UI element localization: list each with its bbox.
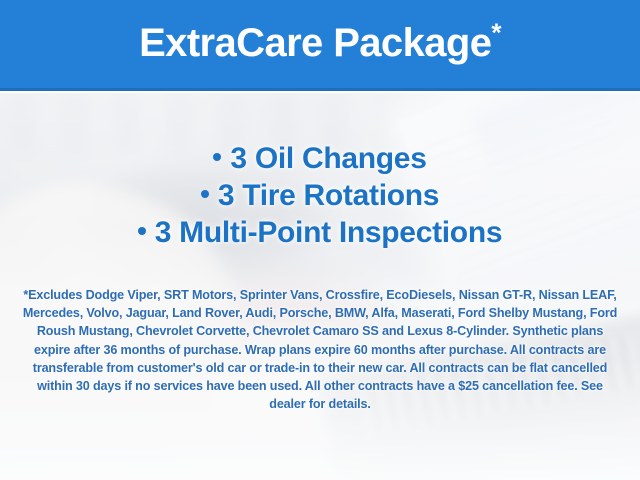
extracare-promo-card: ExtraCare Package* 3 Oil Changes 3 Tire …: [0, 0, 640, 480]
page-title: ExtraCare Package*: [139, 23, 501, 66]
benefit-item-label: 3 Multi-Point Inspections: [155, 216, 503, 249]
benefit-item-oil-changes: 3 Oil Changes: [0, 140, 640, 177]
bullet-dot-icon: [213, 153, 221, 161]
benefit-item-multi-point-inspections: 3 Multi-Point Inspections: [0, 214, 640, 251]
benefits-list: 3 Oil Changes 3 Tire Rotations 3 Multi-P…: [0, 140, 640, 251]
disclaimer-fine-print: *Excludes Dodge Viper, SRT Motors, Sprin…: [22, 286, 618, 413]
bullet-dot-icon: [201, 190, 209, 198]
benefit-item-tire-rotations: 3 Tire Rotations: [0, 177, 640, 214]
page-title-text: ExtraCare Package: [139, 21, 491, 65]
header-hairline-rule: [0, 91, 640, 93]
benefit-item-label: 3 Oil Changes: [230, 142, 426, 175]
header-banner: ExtraCare Package*: [0, 0, 640, 88]
benefit-item-label: 3 Tire Rotations: [218, 179, 439, 212]
page-title-asterisk: *: [491, 17, 501, 47]
disclaimer-text: *Excludes Dodge Viper, SRT Motors, Sprin…: [22, 286, 618, 413]
bullet-dot-icon: [138, 227, 146, 235]
